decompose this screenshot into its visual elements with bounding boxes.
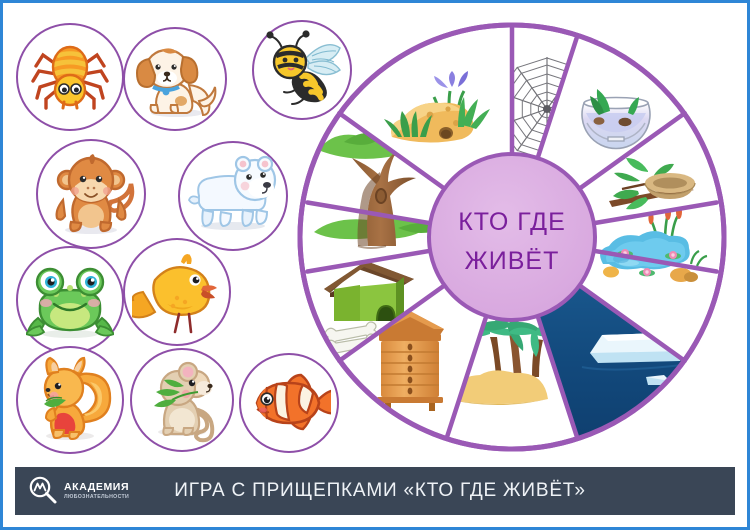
squirrel-icon <box>26 356 114 444</box>
hub-line-2: ЖИВЁТ <box>465 247 560 275</box>
spider-icon <box>28 35 112 119</box>
logo-line-2: ЛЮБОЗНАТЕЛЬНОСТИ <box>64 495 129 500</box>
token-bee[interactable] <box>252 20 352 120</box>
wheel-hub[interactable]: КТО ГДЕ ЖИВЁТ <box>429 154 595 320</box>
magnifier-logo-icon <box>27 475 59 507</box>
bee-icon <box>261 29 343 111</box>
habitat-wheel[interactable]: КТО ГДЕ ЖИВЁТ <box>292 17 732 457</box>
monkey-icon <box>47 150 135 238</box>
token-monkey[interactable] <box>36 139 146 249</box>
footer-banner: АКАДЕМИЯ ЛЮБОЗНАТЕЛЬНОСТИ ИГРА С ПРИЩЕПК… <box>15 467 735 515</box>
token-polarbear[interactable] <box>178 141 288 251</box>
token-frog[interactable] <box>16 246 124 354</box>
dog-icon <box>133 37 217 121</box>
footer-title: ИГРА С ПРИЩЕПКАМИ «КТО ГДЕ ЖИВЁТ» <box>145 480 735 502</box>
token-dog[interactable] <box>123 27 227 131</box>
poster-frame: КТО ГДЕ ЖИВЁТ <box>0 0 750 530</box>
frog-icon <box>26 256 114 344</box>
token-squirrel[interactable] <box>16 346 124 454</box>
hub-line-1: КТО ГДЕ <box>458 208 566 236</box>
token-bird[interactable] <box>123 238 231 346</box>
poster-stage: КТО ГДЕ ЖИВЁТ <box>3 3 747 527</box>
token-clownfish[interactable] <box>239 353 339 453</box>
polar-bear-icon <box>187 150 279 242</box>
bird-icon <box>132 247 222 337</box>
logo-line-1: АКАДЕМИЯ <box>64 482 129 493</box>
brand-logo[interactable]: АКАДЕМИЯ ЛЮБОЗНАТЕЛЬНОСТИ <box>15 467 145 515</box>
token-mouse[interactable] <box>130 348 234 452</box>
token-spider[interactable] <box>16 23 124 131</box>
clownfish-icon <box>247 361 331 445</box>
mouse-icon <box>139 357 225 443</box>
